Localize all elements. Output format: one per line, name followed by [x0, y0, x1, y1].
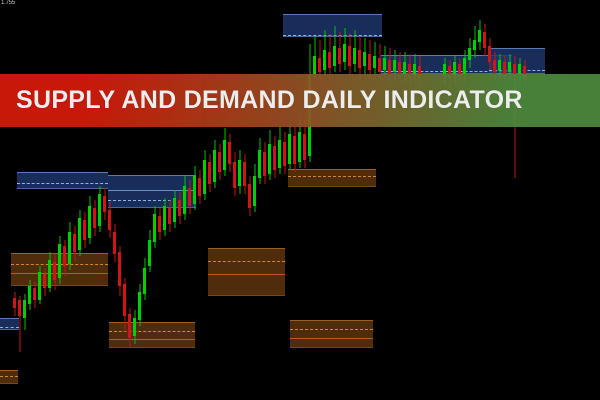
candle-body — [18, 300, 21, 316]
candle-body — [53, 262, 56, 280]
candle — [28, 280, 31, 310]
candle — [13, 292, 16, 316]
candle-body — [378, 58, 381, 72]
candlestick-chart[interactable]: 1.755 — [0, 0, 600, 400]
candle-body — [128, 314, 131, 338]
supply-zone-left-upper[interactable] — [17, 172, 108, 189]
candle — [368, 40, 371, 78]
candle-body — [33, 288, 36, 300]
candle-body — [198, 178, 201, 196]
candle — [53, 254, 56, 290]
candle — [68, 222, 71, 270]
candle — [348, 34, 351, 74]
candle — [163, 198, 166, 236]
candle — [483, 24, 486, 56]
candle-body — [503, 62, 506, 74]
candle-body — [148, 240, 151, 266]
candle-body — [283, 142, 286, 166]
candle — [213, 140, 216, 188]
candle — [113, 224, 116, 262]
candle — [248, 176, 251, 216]
candle — [323, 30, 326, 76]
candle-body — [208, 162, 211, 184]
candle — [58, 236, 61, 284]
zone-mid-dashed-line — [109, 331, 195, 332]
candle — [233, 152, 236, 196]
candle-body — [178, 200, 181, 216]
candle-body — [203, 160, 206, 194]
candle — [118, 246, 121, 296]
candle-body — [228, 142, 231, 164]
candle — [318, 40, 321, 78]
candle-body — [318, 58, 321, 72]
candle — [63, 240, 66, 276]
candle — [268, 130, 271, 180]
candle-body — [193, 176, 196, 204]
candle-body — [183, 186, 186, 214]
candle — [43, 268, 46, 296]
candle — [103, 188, 106, 220]
candle — [338, 32, 341, 72]
candle-body — [518, 64, 521, 74]
candle — [488, 38, 491, 70]
title-banner: SUPPLY AND DEMAND DAILY INDICATOR — [0, 74, 600, 127]
candle — [88, 196, 91, 244]
candle — [23, 294, 26, 330]
candle — [363, 38, 366, 74]
candle-body — [173, 198, 176, 222]
candle-body — [473, 40, 476, 50]
candle — [153, 206, 156, 248]
candle — [468, 38, 471, 68]
zone-mid-dashed-line — [288, 176, 376, 177]
candle-body — [333, 46, 336, 66]
candle — [473, 26, 476, 58]
zone-mid-dashed-line — [0, 327, 19, 328]
candle — [373, 42, 376, 76]
zone-mid-dashed-line — [208, 261, 285, 262]
demand-zone-far-left-bottom[interactable] — [0, 370, 18, 384]
candle-body — [278, 140, 281, 168]
candle — [278, 126, 281, 174]
candle-body — [233, 162, 236, 188]
candle-body — [88, 206, 91, 238]
candle-body — [68, 232, 71, 264]
candle-body — [323, 50, 326, 70]
candle-body — [118, 252, 121, 286]
candle — [93, 200, 96, 236]
candle-body — [253, 176, 256, 206]
candle-body — [468, 48, 471, 60]
candle-body — [163, 206, 166, 230]
candle — [138, 284, 141, 326]
candle-body — [288, 134, 291, 164]
candle — [358, 36, 361, 76]
candle — [108, 202, 111, 238]
candle-body — [78, 218, 81, 250]
candle-body — [488, 46, 491, 62]
candle-body — [43, 274, 46, 288]
candle-body — [23, 300, 26, 318]
candle-body — [108, 210, 111, 230]
candle-body — [93, 208, 96, 228]
candle — [208, 154, 211, 192]
candle-body — [273, 146, 276, 170]
candle-body — [303, 134, 306, 160]
candle — [78, 210, 81, 256]
candle-body — [218, 152, 221, 172]
candle — [18, 296, 21, 352]
demand-zone-center[interactable] — [208, 248, 285, 296]
candle — [313, 36, 316, 78]
candle — [98, 186, 101, 232]
candle-body — [348, 46, 351, 66]
candle — [83, 212, 86, 248]
candle — [123, 278, 126, 332]
candle — [263, 142, 266, 184]
candle — [353, 30, 356, 72]
candle-body — [373, 56, 376, 68]
candle-body — [48, 260, 51, 288]
candle-body — [63, 246, 66, 266]
candle-body — [238, 160, 241, 186]
candle-body — [508, 62, 511, 72]
candle — [128, 308, 131, 348]
candle-body — [258, 150, 261, 178]
candle-body — [138, 292, 141, 320]
candle-body — [13, 298, 16, 308]
candle-body — [478, 30, 481, 42]
candle — [218, 144, 221, 180]
candle — [188, 180, 191, 214]
candle — [258, 138, 261, 184]
candle — [33, 282, 36, 308]
candle — [238, 150, 241, 194]
candle-body — [388, 60, 391, 74]
candle — [133, 310, 136, 344]
demand-zone-bottom-right[interactable] — [290, 320, 373, 348]
candle-body — [403, 62, 406, 74]
candle — [288, 122, 291, 170]
candle-body — [83, 220, 86, 240]
candle-body — [98, 194, 101, 226]
candle — [293, 126, 296, 172]
candle-body — [213, 150, 216, 182]
candle — [183, 176, 186, 220]
zone-mid-dashed-line — [0, 376, 18, 377]
candle — [333, 26, 336, 72]
candle — [273, 136, 276, 178]
candle — [143, 258, 146, 300]
candle-body — [393, 60, 396, 72]
candle — [343, 28, 346, 70]
candle — [253, 164, 256, 212]
candle — [198, 170, 201, 204]
candle-body — [328, 52, 331, 68]
candle — [73, 226, 76, 262]
candle-body — [168, 208, 171, 224]
candle-body — [463, 58, 466, 74]
candle-body — [38, 272, 41, 300]
candle-body — [498, 60, 501, 70]
candle-body — [223, 140, 226, 170]
candle — [243, 154, 246, 194]
screenshot-root: 1.755 SUPPLY AND DEMAND DAILY INDICATOR — [0, 0, 600, 400]
demand-zone-bottom-center[interactable] — [109, 322, 195, 348]
candle-body — [493, 60, 496, 72]
candle — [228, 134, 231, 172]
candle-body — [243, 162, 246, 186]
candle-body — [103, 196, 106, 212]
candle — [48, 252, 51, 292]
banner-title-text: SUPPLY AND DEMAND DAILY INDICATOR — [16, 88, 523, 113]
candle — [328, 34, 331, 74]
candle-body — [28, 286, 31, 304]
zone-mid-solid-line — [290, 338, 373, 339]
candle-body — [153, 214, 156, 242]
candle-body — [363, 52, 366, 66]
candle — [173, 190, 176, 228]
candle — [303, 120, 306, 168]
candle-body — [158, 216, 161, 232]
candle-body — [293, 136, 296, 164]
candle — [193, 166, 196, 210]
candle-body — [383, 58, 386, 70]
candle — [168, 200, 171, 232]
candle — [38, 266, 41, 304]
candle — [178, 192, 181, 224]
candle-body — [263, 152, 266, 176]
candle — [148, 230, 151, 272]
candle-body — [343, 44, 346, 62]
zone-mid-solid-line — [109, 339, 195, 340]
candle-body — [298, 132, 301, 162]
candle-body — [73, 234, 76, 252]
candle-body — [368, 54, 371, 70]
price-axis-label: 1.755 — [1, 0, 15, 7]
candle-body — [123, 284, 126, 316]
candle — [223, 128, 226, 176]
candle — [283, 132, 286, 174]
zone-mid-dashed-line — [17, 183, 108, 184]
candle-body — [268, 144, 271, 174]
candle-body — [353, 48, 356, 64]
candle-body — [358, 50, 361, 68]
candle-body — [188, 188, 191, 206]
candle-body — [313, 56, 316, 74]
candle-body — [113, 232, 116, 254]
candle-body — [133, 318, 136, 336]
candle — [203, 150, 206, 200]
candle — [478, 20, 481, 50]
candle-body — [338, 48, 341, 64]
zone-mid-solid-line — [208, 274, 285, 275]
candle-body — [248, 184, 251, 208]
demand-zone-right-mid[interactable] — [288, 169, 376, 187]
supply-zone-far-left-low[interactable] — [0, 318, 19, 330]
candle-body — [483, 32, 486, 48]
candle-body — [58, 244, 61, 278]
zone-mid-dashed-line — [290, 329, 373, 330]
candle-body — [143, 268, 146, 294]
candle — [158, 208, 161, 240]
